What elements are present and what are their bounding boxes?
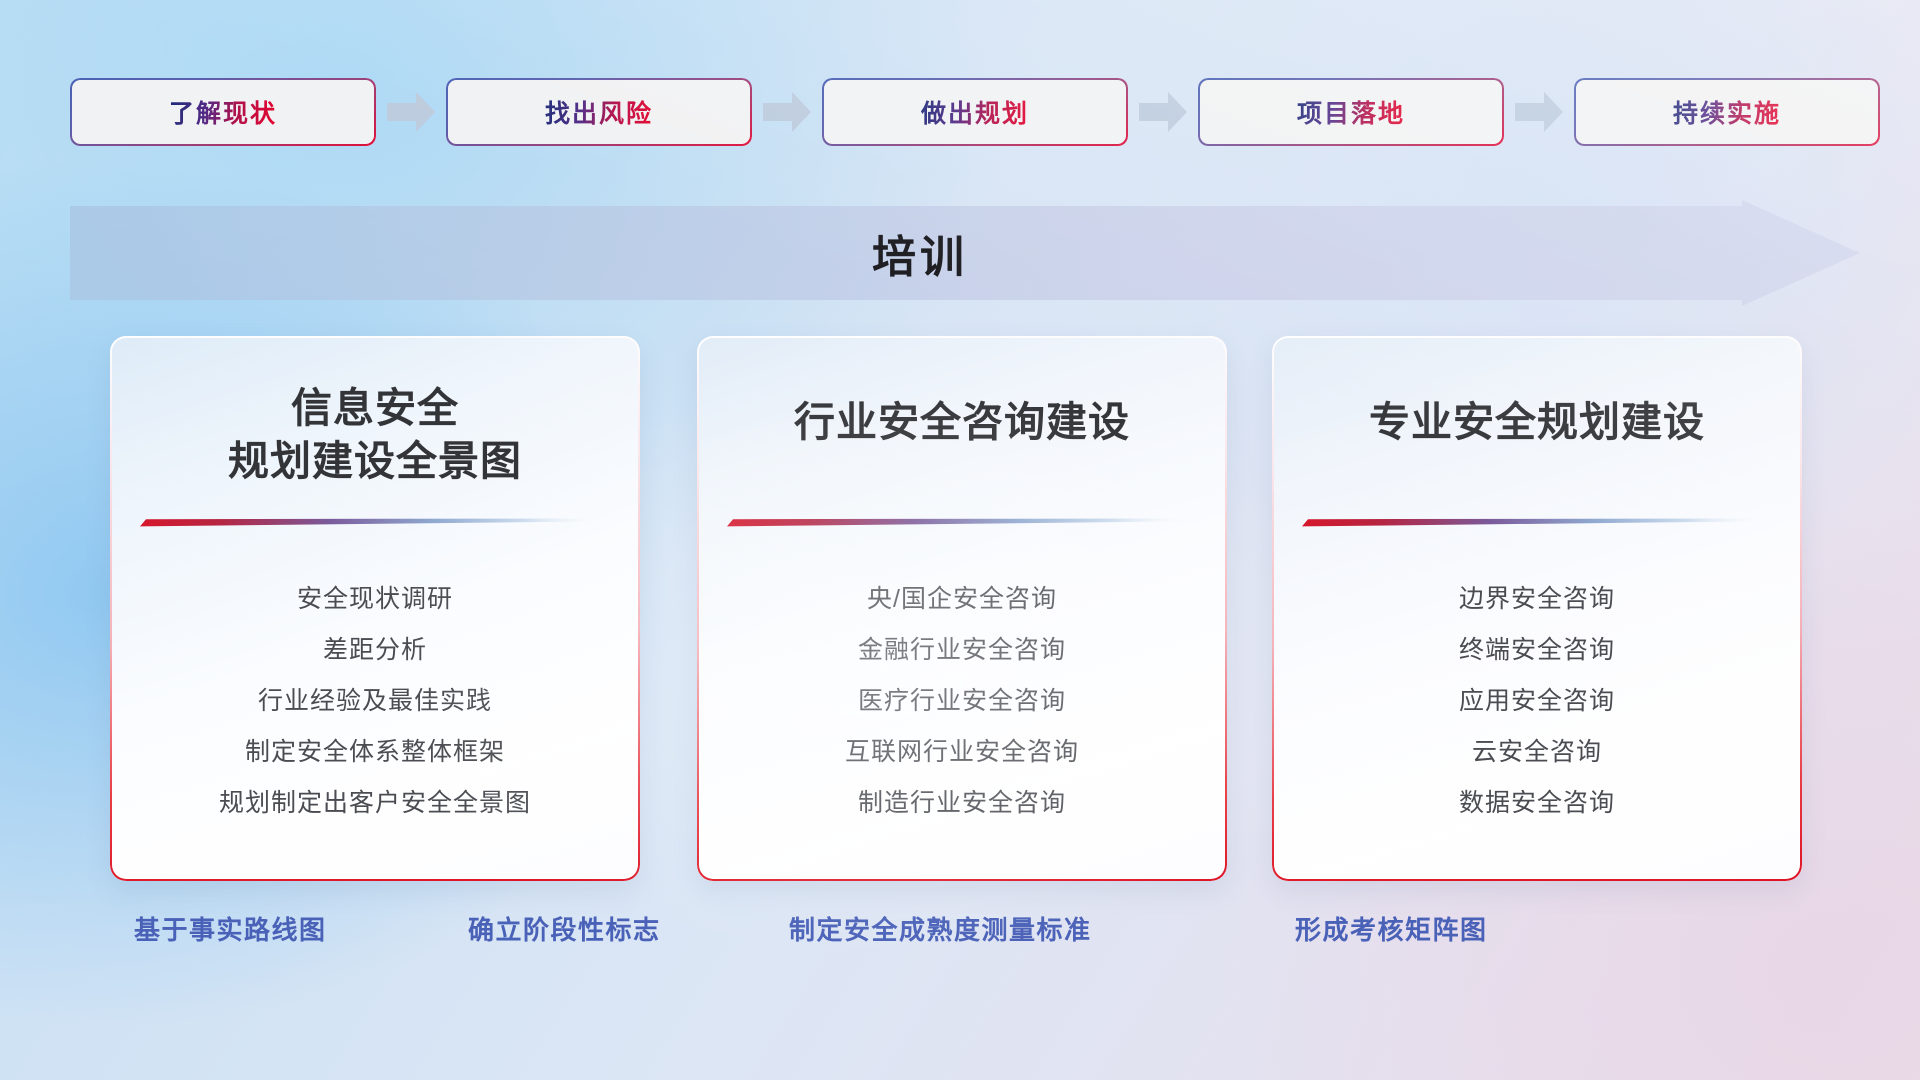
gradient-divider	[727, 518, 1197, 527]
step-label-3: 做出规划	[921, 94, 1029, 130]
list-item: 云安全咨询	[1272, 727, 1802, 778]
step-box-3[interactable]: 做出规划	[822, 78, 1128, 146]
list-item: 行业经验及最佳实践	[110, 676, 640, 727]
list-item: 差距分析	[110, 625, 640, 676]
card-list: 边界安全咨询 终端安全咨询 应用安全咨询 云安全咨询 数据安全咨询	[1272, 574, 1802, 829]
step-box-1[interactable]: 了解现状	[70, 78, 376, 146]
step-label-5: 持续实施	[1673, 94, 1781, 130]
list-item: 金融行业安全咨询	[697, 625, 1227, 676]
list-item: 安全现状调研	[110, 574, 640, 625]
step-label-2: 找出风险	[545, 94, 653, 130]
list-item: 边界安全咨询	[1272, 574, 1802, 625]
card-list: 央/国企安全咨询 金融行业安全咨询 医疗行业安全咨询 互联网行业安全咨询 制造行…	[697, 574, 1227, 829]
list-item: 央/国企安全咨询	[697, 574, 1227, 625]
caption-matrix: 形成考核矩阵图	[1295, 910, 1488, 947]
slide-canvas: 了解现状 找出风险 做出规划 项目落地	[0, 0, 1920, 1080]
caption-milestone: 确立阶段性标志	[468, 910, 661, 947]
card-professional-security-planning[interactable]: 专业安全规划建设 边界安全咨询 终端安全咨询 应用安全咨	[1272, 336, 1802, 881]
caption-maturity: 制定安全成熟度测量标准	[789, 910, 1092, 947]
card-list: 安全现状调研 差距分析 行业经验及最佳实践 制定安全体系整体框架 规划制定出客户…	[110, 574, 640, 829]
training-banner: 培训	[70, 200, 1860, 306]
right-arrow-icon	[1137, 90, 1189, 134]
step-label-1: 了解现状	[169, 94, 277, 130]
right-arrow-icon	[1513, 90, 1565, 134]
list-item: 规划制定出客户安全全景图	[110, 778, 640, 829]
list-item: 互联网行业安全咨询	[697, 727, 1227, 778]
step-label-4: 项目落地	[1297, 94, 1405, 130]
step-box-5[interactable]: 持续实施	[1574, 78, 1880, 146]
step-box-4[interactable]: 项目落地	[1198, 78, 1504, 146]
step-box-2[interactable]: 找出风险	[446, 78, 752, 146]
list-item: 制定安全体系整体框架	[110, 727, 640, 778]
caption-roadmap: 基于事实路线图	[134, 910, 327, 947]
list-item: 终端安全咨询	[1272, 625, 1802, 676]
list-item: 制造行业安全咨询	[697, 778, 1227, 829]
list-item: 医疗行业安全咨询	[697, 676, 1227, 727]
list-item: 数据安全咨询	[1272, 778, 1802, 829]
card-title: 专业安全规划建设	[1272, 396, 1802, 449]
card-industry-security-consulting[interactable]: 行业安全咨询建设 央/国企安全咨询 金融行业安全咨询 医	[697, 336, 1227, 881]
bottom-captions: 基于事实路线图 确立阶段性标志 制定安全成熟度测量标准 形成考核矩阵图	[0, 910, 1920, 970]
list-item: 应用安全咨询	[1272, 676, 1802, 727]
process-steps: 了解现状 找出风险 做出规划 项目落地	[70, 78, 1860, 146]
card-title: 行业安全咨询建设	[697, 396, 1227, 449]
cards-row: 信息安全 规划建设全景图 安全现状调研 差距分析 行业经	[0, 336, 1920, 881]
gradient-divider	[140, 518, 610, 527]
right-arrow-icon	[761, 90, 813, 134]
banner-title: 培训	[70, 200, 1860, 306]
card-information-security[interactable]: 信息安全 规划建设全景图 安全现状调研 差距分析 行业经	[110, 336, 640, 881]
gradient-divider	[1302, 518, 1772, 527]
card-title: 信息安全 规划建设全景图	[110, 382, 640, 489]
right-arrow-icon	[385, 90, 437, 134]
